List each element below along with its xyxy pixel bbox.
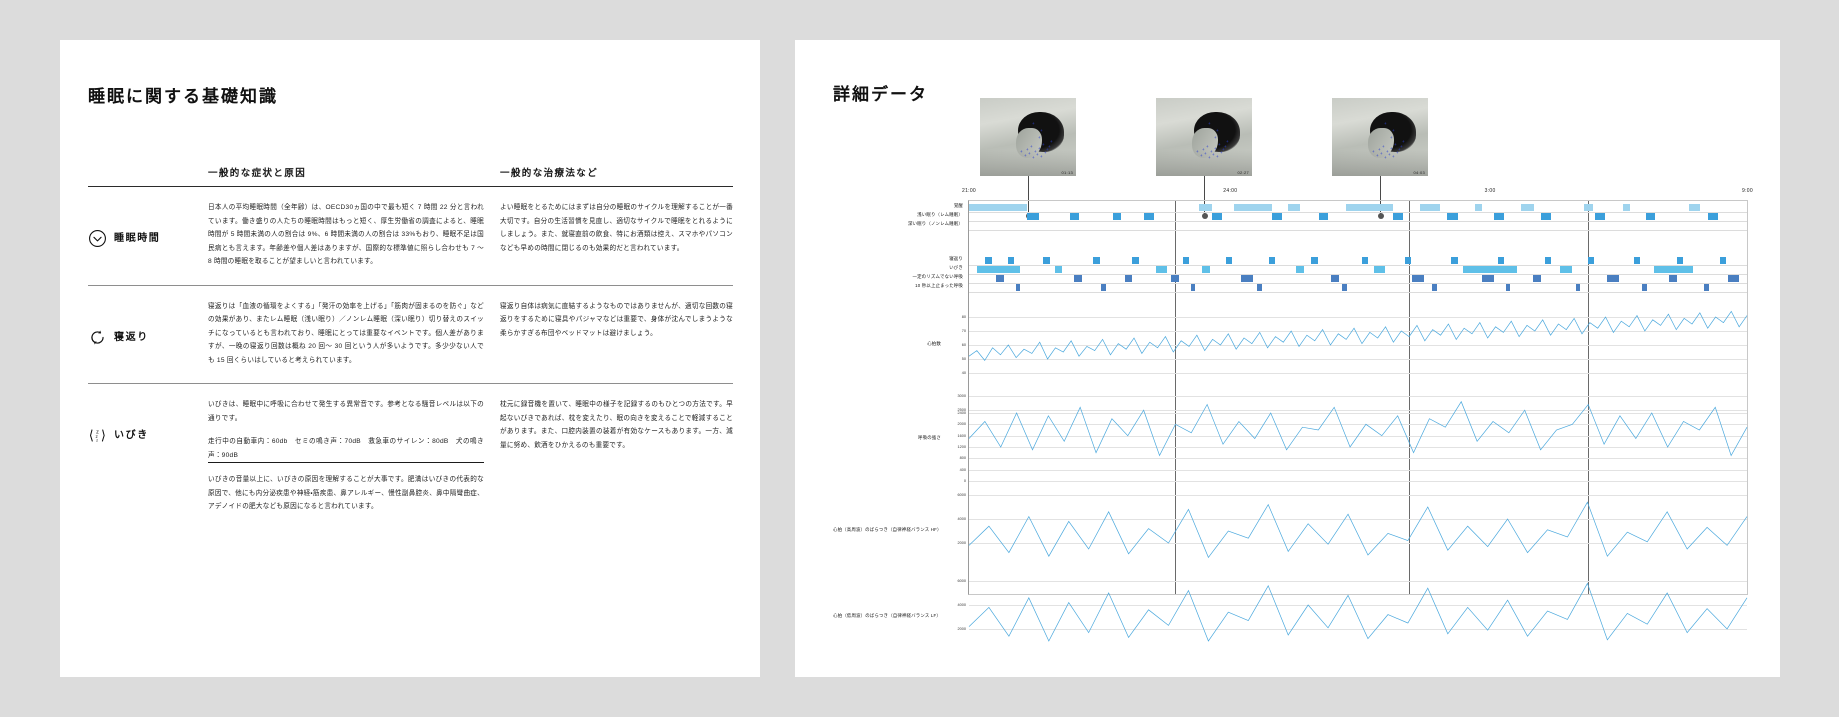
- event-segment: [1482, 275, 1494, 282]
- row-icon-cell: z z z いびき: [88, 398, 208, 514]
- tracking-point: +: [1020, 150, 1023, 153]
- event-segment: [1132, 257, 1138, 264]
- tracking-point: +: [1396, 151, 1399, 154]
- tracking-point: +: [1048, 145, 1051, 148]
- tracking-point: +: [1196, 150, 1199, 153]
- tracking-point: +: [1040, 155, 1043, 158]
- tracking-point: +: [1216, 155, 1219, 158]
- row-label: 睡眠時間: [114, 229, 160, 244]
- event-segment: [1202, 266, 1210, 273]
- event-segment: [1362, 257, 1368, 264]
- tracking-point: +: [1206, 145, 1209, 148]
- tracking-point: +: [1042, 143, 1045, 146]
- thumbnail-timestamp: 01:13: [1061, 170, 1073, 175]
- lane-label: 寝返り: [833, 256, 963, 262]
- stage-segment: [1027, 213, 1039, 220]
- event-segment: [1451, 257, 1457, 264]
- time-tick-label: 3:00: [1485, 188, 1496, 194]
- event-segment: [1342, 284, 1347, 291]
- event-segment: [1669, 275, 1677, 282]
- time-tick-label: 9:00: [1742, 188, 1753, 194]
- rotate-icon: [88, 328, 107, 347]
- event-segment: [1463, 266, 1517, 273]
- stage-segment: [1212, 213, 1222, 220]
- row-treatment-cell: 寝返り自体は病気に直結するようなものではありませんが、適切な回数の寝返りをするた…: [500, 300, 733, 368]
- tracking-point: +: [1024, 154, 1027, 157]
- event-segment: [1506, 284, 1511, 291]
- header-treatment: 一般的な治療法など: [500, 165, 733, 179]
- y-tick-label: 6000: [958, 579, 966, 583]
- left-page: 睡眠に関する基礎知識 一般的な症状と原因 一般的な治療法など 睡眠時間 日本人の…: [60, 40, 760, 677]
- stage-segment: [1199, 204, 1212, 211]
- sleep-photo-2[interactable]: ++++++++++++++++++02:27: [1156, 98, 1252, 176]
- event-segment: [1331, 275, 1339, 282]
- table-row: 睡眠時間 日本人の平均睡眠時間（全年齢）は、OECD30ヵ国の中で最も短く 7 …: [88, 187, 733, 285]
- y-tick-label: 4000: [958, 603, 966, 607]
- stage-segment: [1319, 213, 1328, 220]
- header-symptoms: 一般的な症状と原因: [208, 165, 500, 179]
- y-tick-label: 3000: [958, 394, 966, 398]
- y-tick-label: 4000: [958, 517, 966, 521]
- event-segment: [1311, 257, 1317, 264]
- stage-segment: [1708, 213, 1718, 220]
- stage-segment: [1584, 204, 1593, 211]
- event-segment: [1008, 257, 1014, 264]
- event-segment: [1607, 275, 1619, 282]
- y-tick-label: 800: [960, 456, 966, 460]
- event-segment: [1101, 284, 1106, 291]
- symptoms-text: 日本人の平均睡眠時間（全年齢）は、OECD30ヵ国の中で最も短く 7 時間 22…: [208, 201, 484, 269]
- tracking-point: +: [1050, 140, 1053, 143]
- tracking-point: +: [1390, 136, 1393, 139]
- time-tick-label: 21:00: [962, 188, 976, 194]
- svg-text:z: z: [96, 437, 98, 442]
- event-segment: [1093, 257, 1100, 264]
- symptoms-text: 寝返りは「血液の循環をよくする」「発汗の効率を上げる」「筋肉が固まるのを防ぐ」な…: [208, 300, 484, 368]
- tracking-point: +: [1224, 145, 1227, 148]
- event-segment: [1576, 284, 1581, 291]
- stage-segment: [1595, 213, 1605, 220]
- event-segment: [1545, 257, 1551, 264]
- tracking-point: +: [1032, 156, 1035, 159]
- lane-label: 深い眠り（ノンレム睡眠）: [833, 221, 963, 227]
- tracking-point: +: [1400, 145, 1403, 148]
- page-title: 睡眠に関する基礎知識: [88, 82, 278, 107]
- row-label: 寝返り: [114, 328, 149, 343]
- tracking-point: +: [1214, 147, 1217, 150]
- tracking-point: +: [1040, 129, 1043, 132]
- stage-segment: [1447, 213, 1457, 220]
- tracking-point: +: [1382, 145, 1385, 148]
- chart-series-label: 心拍（高周波）のばらつき（自律神経バランス HF）: [833, 527, 941, 533]
- line-chart-row: 3000250024002000160012008004000: [969, 396, 1747, 481]
- event-segment: [1533, 275, 1541, 282]
- event-segment: [1016, 284, 1021, 291]
- tracking-point: +: [1218, 143, 1221, 146]
- line-series: [969, 495, 1747, 567]
- row-treatment-cell: よい睡眠をとるためにはまずは自分の睡眠のサイクルを理解することが一番大切です。自…: [500, 201, 733, 269]
- event-segment: [977, 266, 1020, 273]
- sleep-photo-3[interactable]: ++++++++++++++++++04:03: [1332, 98, 1428, 176]
- event-segment: [1405, 257, 1411, 264]
- row-treatment-cell: 枕元に録音機を置いて、睡眠中の様子を記録するのもひとつの方法です。早起ないびきで…: [500, 398, 733, 514]
- y-tick-label: 2000: [958, 541, 966, 545]
- lane-label: 覚醒: [833, 203, 963, 209]
- event-segment: [1183, 257, 1189, 264]
- tracking-point: +: [1036, 153, 1039, 156]
- y-tick-label: 60: [962, 343, 966, 347]
- event-segment: [1432, 284, 1437, 291]
- treatment-text: よい睡眠をとるためにはまずは自分の睡眠のサイクルを理解することが一番大切です。自…: [500, 201, 733, 255]
- event-segment: [985, 257, 993, 264]
- header-icon-spacer: [88, 165, 208, 179]
- stage-segment: [1420, 204, 1439, 211]
- event-row: [969, 283, 1747, 293]
- noise-levels-text: 走行中の自動車内：60db セミの鳴き声：70dB 救急車のサイレン：80dB …: [208, 435, 484, 463]
- line-series: [969, 396, 1747, 481]
- tracking-point: +: [1044, 151, 1047, 154]
- stage-segment: [1346, 204, 1393, 211]
- stage-segment: [1646, 213, 1655, 220]
- row-label: いびき: [114, 426, 149, 441]
- symptoms-text-2: いびきの音量以上に、いびきの原因を理解することが大事です。肥満はいびきの代表的な…: [208, 473, 484, 514]
- sleep-detail-chart: 21:0024:003:009:00 807060504030002500240…: [833, 188, 1748, 598]
- tracking-point: +: [1388, 153, 1391, 156]
- tracking-point: +: [1392, 155, 1395, 158]
- time-tick-label: 24:00: [1223, 188, 1237, 194]
- chart-series-label: 呼吸の強さ: [833, 435, 941, 441]
- event-segment: [1241, 275, 1253, 282]
- event-segment: [1043, 257, 1050, 264]
- event-segment: [1269, 257, 1275, 264]
- stage-segment: [1623, 204, 1631, 211]
- tracking-point: +: [1204, 152, 1207, 155]
- tracking-point: +: [1038, 136, 1041, 139]
- row-symptoms-cell: 寝返りは「血液の循環をよくする」「発汗の効率を上げる」「筋肉が固まるのを防ぐ」な…: [208, 300, 500, 368]
- gridline: [969, 481, 1747, 482]
- stage-segment: [1113, 213, 1122, 220]
- event-segment: [996, 275, 1004, 282]
- event-segment: [1257, 284, 1262, 291]
- tracking-point: +: [1212, 153, 1215, 156]
- tracking-point: +: [1030, 145, 1033, 148]
- stage-segment: [969, 204, 1027, 211]
- treatment-text: 寝返り自体は病気に直結するようなものではありませんが、適切な回数の寝返りをするた…: [500, 300, 733, 341]
- tracking-point: +: [1392, 129, 1395, 132]
- tracking-point: +: [1390, 147, 1393, 150]
- line-series: [969, 581, 1747, 653]
- event-segment: [1560, 266, 1572, 273]
- stage-segment: [1689, 204, 1701, 211]
- event-segment: [1704, 284, 1709, 291]
- y-tick-label: 1200: [958, 445, 966, 449]
- y-tick-label: 0: [964, 479, 966, 483]
- chart-series-label: 心拍（低周波）のばらつき（自律神経バランス LF）: [833, 613, 941, 619]
- time-axis: 21:0024:003:009:00: [968, 188, 1748, 200]
- line-chart-row: 600040002000: [969, 581, 1747, 653]
- treatment-text: 枕元に録音機を置いて、睡眠中の様子を記録するのもひとつの方法です。早起ないびきで…: [500, 398, 733, 452]
- row-icon-cell: 睡眠時間: [88, 201, 208, 269]
- event-segment: [1412, 275, 1424, 282]
- tracking-point: +: [1394, 143, 1397, 146]
- stage-segment: [1494, 213, 1504, 220]
- thumbnail-timestamp: 02:27: [1237, 170, 1249, 175]
- tracking-point: +: [1038, 147, 1041, 150]
- grid-area: 8070605040300025002400200016001200800400…: [968, 200, 1748, 595]
- tracking-point: +: [1208, 156, 1211, 159]
- lane-label: いびき: [833, 265, 963, 271]
- tracking-point: +: [1372, 150, 1375, 153]
- tracking-point: +: [1402, 140, 1405, 143]
- stage-segment: [1521, 204, 1533, 211]
- row-symptoms-cell: いびきは、睡眠中に呼吸に合わせて発生する異常音です。参考となる騒音レベルは以下の…: [208, 398, 500, 514]
- stage-segment: [1272, 213, 1281, 220]
- sleep-photo-1[interactable]: ++++++++++++++++++01:13: [980, 98, 1076, 176]
- event-segment: [1720, 257, 1726, 264]
- y-tick-label: 80: [962, 315, 966, 319]
- event-segment: [1654, 266, 1693, 273]
- stage-segment: [1475, 204, 1483, 211]
- knowledge-table: 一般的な症状と原因 一般的な治療法など 睡眠時間 日本人の平均睡眠時間（全年齢）…: [88, 165, 733, 530]
- sleep-stage-row: [969, 221, 1747, 231]
- line-chart-row: 600040002000: [969, 495, 1747, 567]
- tracking-point: +: [1032, 122, 1035, 125]
- plot-area: 8070605040300025002400200016001200800400…: [833, 200, 1748, 595]
- event-segment: [1634, 257, 1640, 264]
- tracking-point: +: [1216, 129, 1219, 132]
- event-segment: [1156, 266, 1168, 273]
- lane-label: 浅い眠り（レム睡眠）: [833, 212, 963, 218]
- tracking-point: +: [1384, 156, 1387, 159]
- y-tick-label: 2000: [958, 422, 966, 426]
- tracking-point: +: [1208, 122, 1211, 125]
- tracking-point: +: [1200, 154, 1203, 157]
- symptoms-text: いびきは、睡眠中に呼吸に合わせて発生する異常音です。参考となる騒音レベルは以下の…: [208, 398, 484, 425]
- y-tick-label: 1600: [958, 434, 966, 438]
- table-header-row: 一般的な症状と原因 一般的な治療法など: [88, 165, 733, 186]
- tracking-point: +: [1028, 152, 1031, 155]
- tracking-point: +: [1226, 140, 1229, 143]
- y-tick-label: 400: [960, 468, 966, 472]
- y-tick-label: 6000: [958, 493, 966, 497]
- tracking-point: +: [1214, 136, 1217, 139]
- event-segment: [1588, 257, 1594, 264]
- y-tick-label: 2000: [958, 627, 966, 631]
- row-symptoms-cell: 日本人の平均睡眠時間（全年齢）は、OECD30ヵ国の中で最も短く 7 時間 22…: [208, 201, 500, 269]
- event-segment: [1296, 266, 1304, 273]
- y-tick-label: 70: [962, 329, 966, 333]
- y-tick-label: 40: [962, 371, 966, 375]
- event-segment: [1226, 257, 1232, 264]
- event-segment: [1171, 275, 1179, 282]
- stage-segment: [1234, 204, 1273, 211]
- stage-segment: [1541, 213, 1551, 220]
- event-segment: [1055, 266, 1063, 273]
- event-segment: [1191, 284, 1196, 291]
- event-segment: [1498, 257, 1504, 264]
- thumbnail-strip: ++++++++++++++++++01:13+++++++++++++++++…: [795, 98, 1780, 184]
- line-series: [969, 310, 1747, 380]
- event-segment: [1642, 284, 1647, 291]
- chart-series-label: 心拍数: [833, 341, 941, 347]
- tracking-point: +: [1220, 151, 1223, 154]
- event-segment: [1677, 257, 1683, 264]
- lane-label: 10 秒以上止まった呼吸: [833, 283, 963, 289]
- row-icon-cell: 寝返り: [88, 300, 208, 368]
- line-chart-row: 8070605040: [969, 310, 1747, 380]
- event-segment: [1074, 275, 1082, 282]
- stage-segment: [1393, 213, 1403, 220]
- tracking-point: +: [1384, 122, 1387, 125]
- stage-segment: [1070, 213, 1079, 220]
- clock-icon: [88, 229, 107, 248]
- tracking-point: +: [1380, 152, 1383, 155]
- snore-zzz-icon: z z z: [88, 426, 107, 445]
- right-page: 詳細データ ++++++++++++++++++01:13+++++++++++…: [795, 40, 1780, 677]
- y-tick-label: 2400: [958, 411, 966, 415]
- lane-label: 一定のリズムでない呼吸: [833, 274, 963, 280]
- stage-segment: [1144, 213, 1154, 220]
- tracking-point: +: [1376, 154, 1379, 157]
- event-segment: [1374, 266, 1386, 273]
- event-segment: [1125, 275, 1133, 282]
- table-row: 寝返り 寝返りは「血液の循環をよくする」「発汗の効率を上げる」「筋肉が固まるのを…: [88, 286, 733, 384]
- stage-segment: [1288, 204, 1300, 211]
- table-row: z z z いびき いびきは、睡眠中に呼吸に合わせて発生する異常音です。参考とな…: [88, 384, 733, 530]
- thumbnail-timestamp: 04:03: [1413, 170, 1425, 175]
- y-tick-label: 50: [962, 357, 966, 361]
- event-segment: [1728, 275, 1740, 282]
